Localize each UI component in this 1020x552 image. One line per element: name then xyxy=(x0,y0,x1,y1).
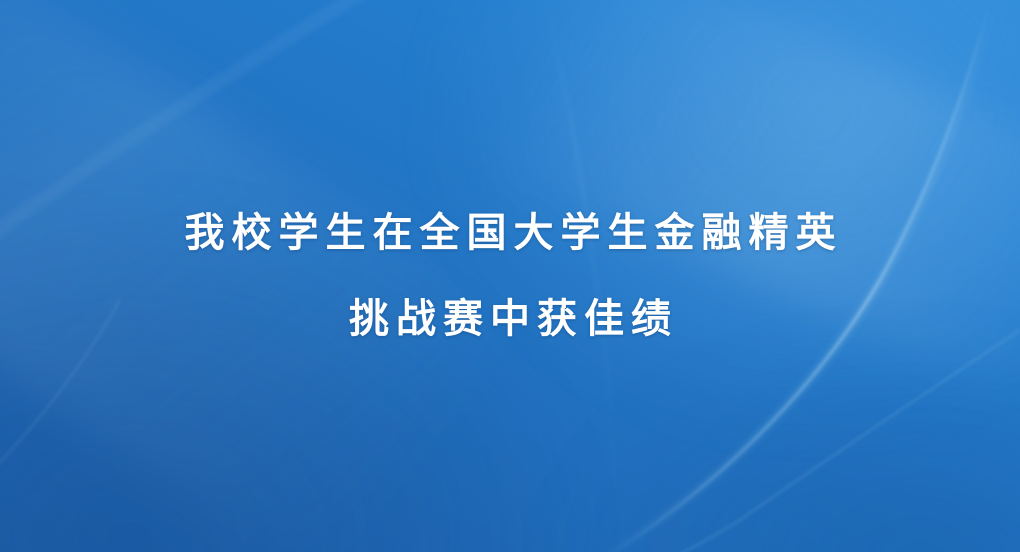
decorative-arc-main xyxy=(600,0,990,552)
background-streak-upper-left xyxy=(0,0,500,552)
background-curve-group xyxy=(0,0,1020,552)
decorative-arc-main-glow xyxy=(575,2,995,552)
background-glow-top-right xyxy=(430,0,1020,430)
decorative-band-top-left xyxy=(0,0,400,250)
headline-line-2: 挑战赛中获佳绩 xyxy=(342,299,678,339)
background-shade-bottom-left xyxy=(0,210,580,552)
headline-line-1: 我校学生在全国大学生金融精英 xyxy=(178,213,843,253)
background-shade-bottom-right xyxy=(540,330,1020,552)
decorative-arc-centre xyxy=(540,0,618,552)
decorative-arc-lower-right xyxy=(640,330,1020,552)
decorative-arc-left xyxy=(0,300,120,478)
background-streak-upper-right xyxy=(498,0,1020,421)
headline-block: 我校学生在全国大学生金融精英 挑战赛中获佳绩 xyxy=(0,0,1020,552)
banner-canvas: 我校学生在全国大学生金融精英 挑战赛中获佳绩 xyxy=(0,0,1020,552)
